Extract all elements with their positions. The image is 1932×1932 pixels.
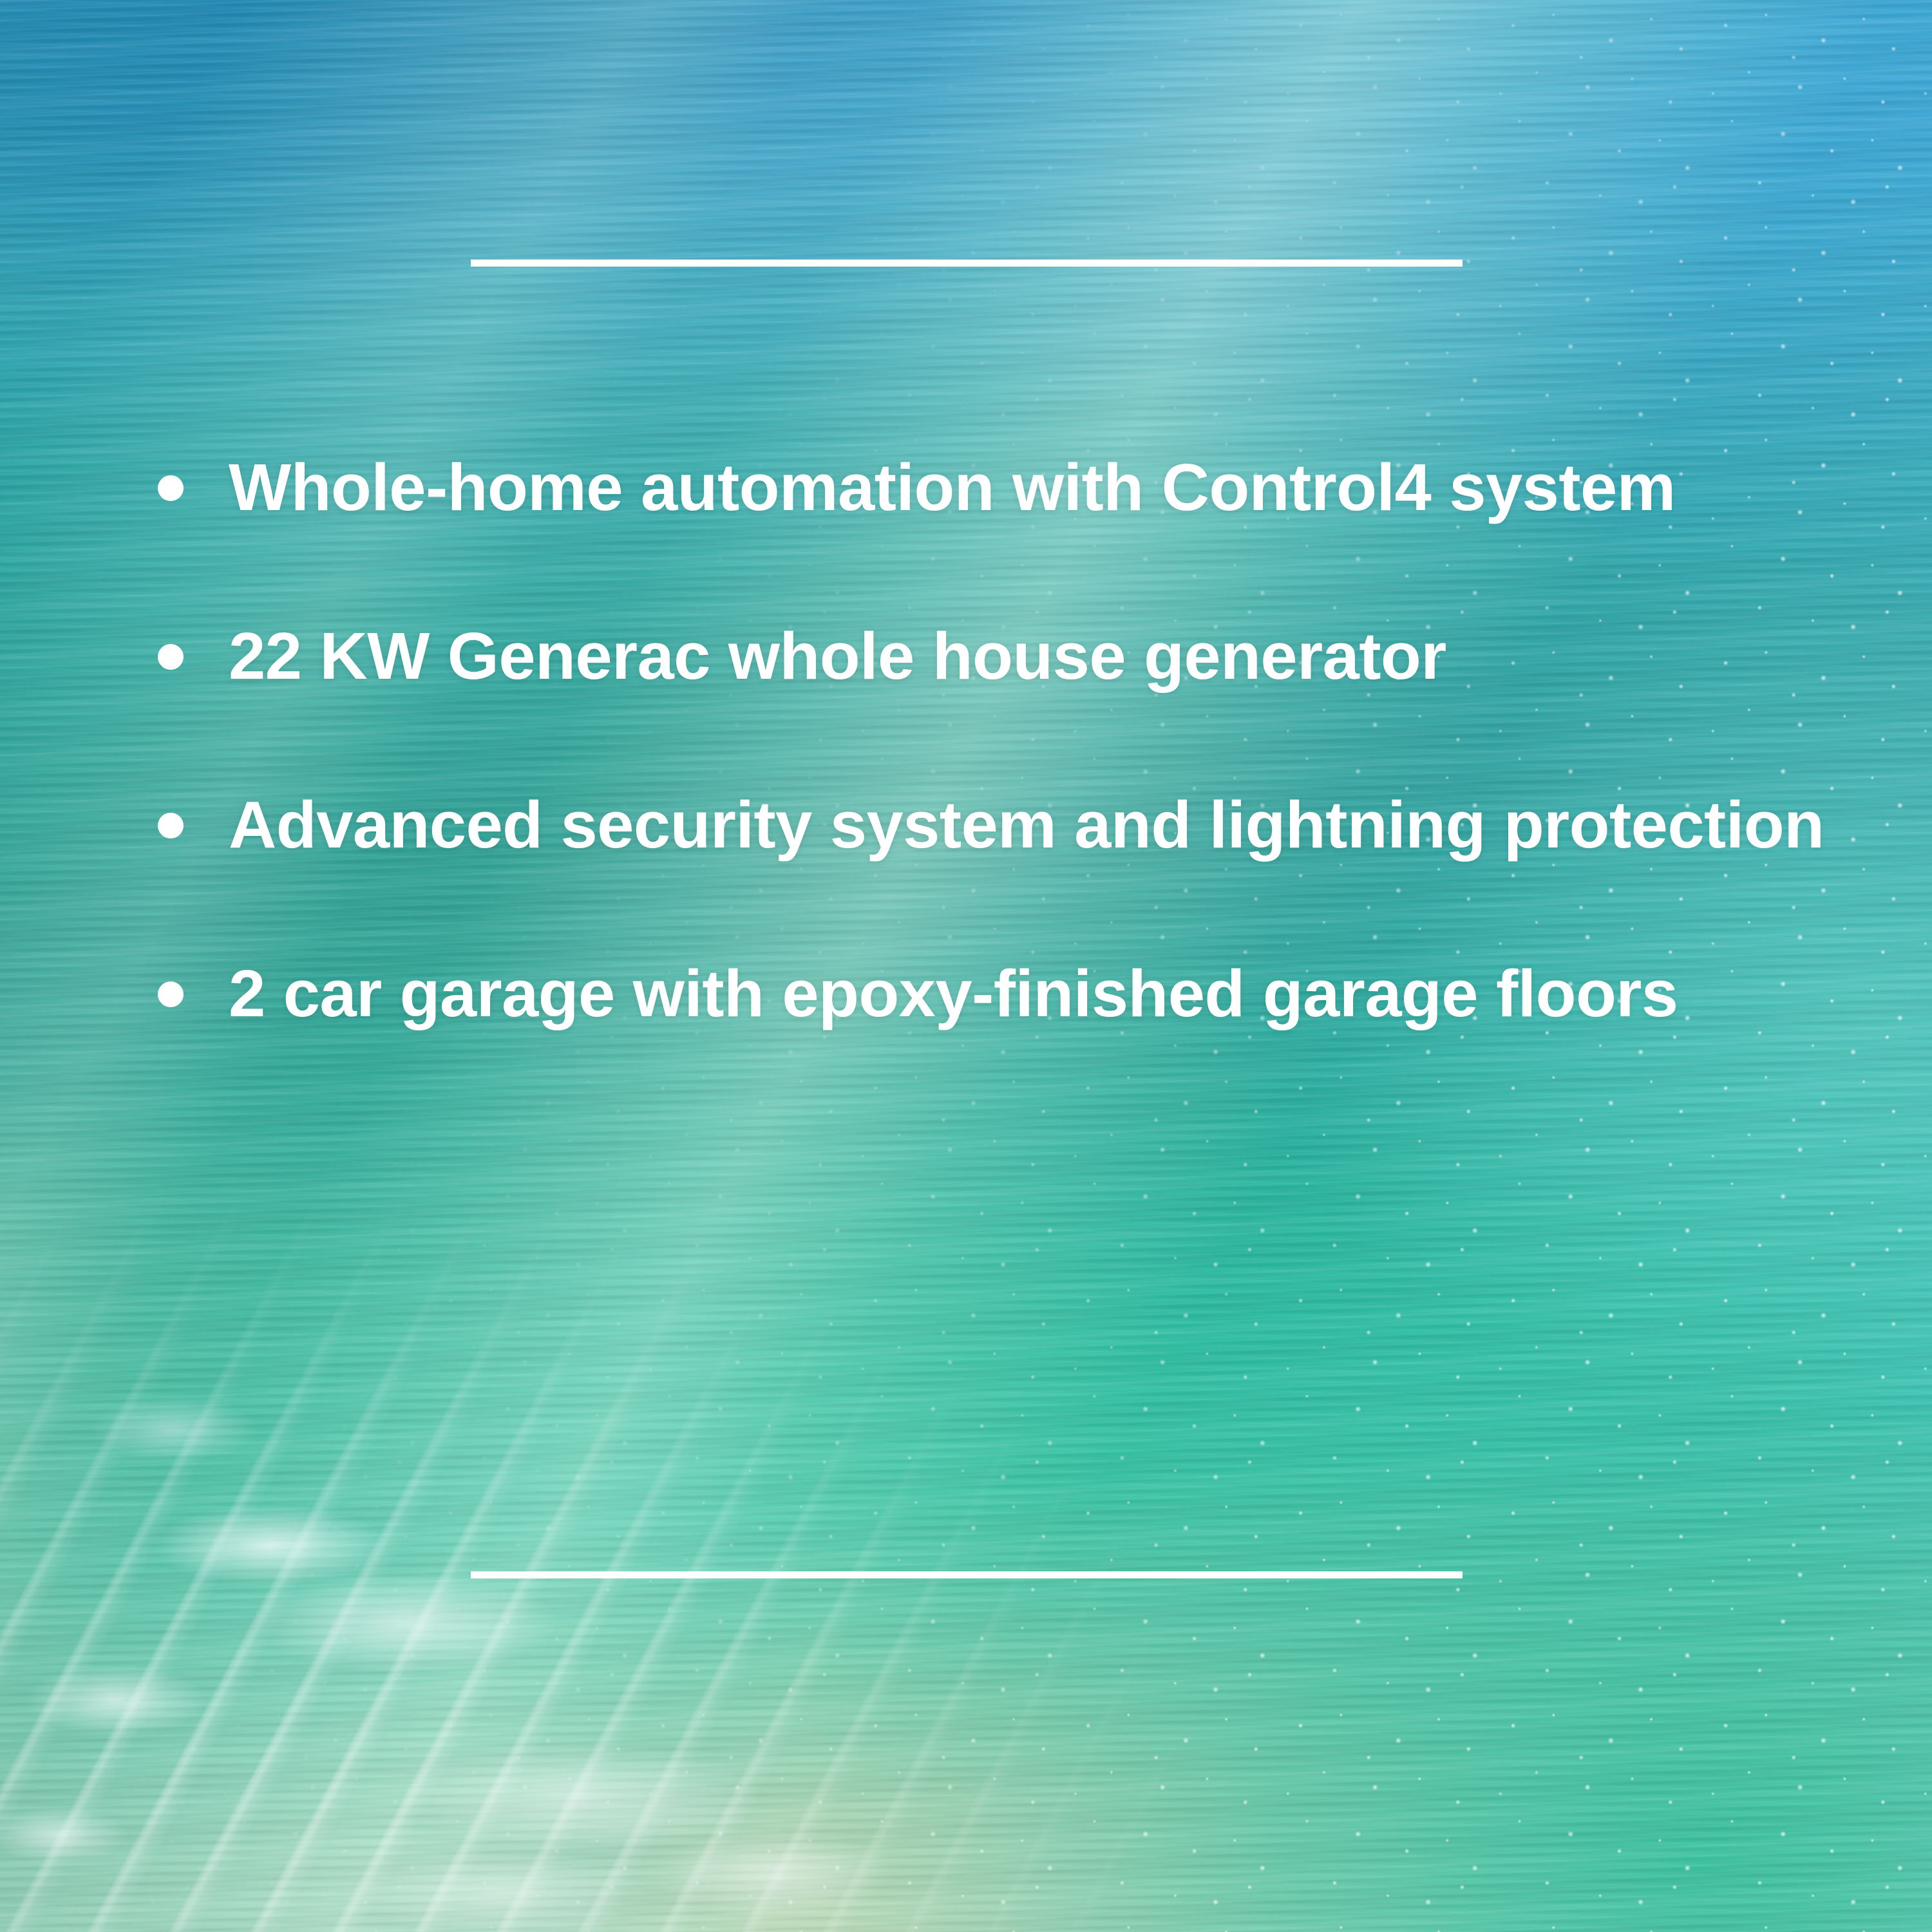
bottom-divider-rule bbox=[471, 1571, 1463, 1578]
list-item: Advanced security system and lightning p… bbox=[0, 782, 1932, 868]
slide-content: Whole-home automation with Control4 syst… bbox=[0, 0, 1932, 1932]
list-item: 2 car garage with epoxy-finished garage … bbox=[0, 951, 1932, 1037]
bullet-dot-icon bbox=[158, 981, 184, 1007]
list-item: 22 KW Generac whole house generator bbox=[0, 613, 1932, 699]
feature-bullet-list: Whole-home automation with Control4 syst… bbox=[0, 444, 1932, 1037]
slide-canvas: Whole-home automation with Control4 syst… bbox=[0, 0, 1932, 1932]
bullet-text: 2 car garage with epoxy-finished garage … bbox=[229, 951, 1855, 1037]
bullet-dot-icon bbox=[158, 644, 184, 670]
bullet-dot-icon bbox=[158, 475, 184, 501]
bullet-dot-icon bbox=[158, 813, 184, 838]
top-divider-rule bbox=[471, 260, 1463, 267]
bullet-text: Advanced security system and lightning p… bbox=[229, 782, 1855, 868]
bullet-text: Whole-home automation with Control4 syst… bbox=[229, 444, 1855, 531]
bullet-text: 22 KW Generac whole house generator bbox=[229, 613, 1855, 699]
list-item: Whole-home automation with Control4 syst… bbox=[0, 444, 1932, 531]
